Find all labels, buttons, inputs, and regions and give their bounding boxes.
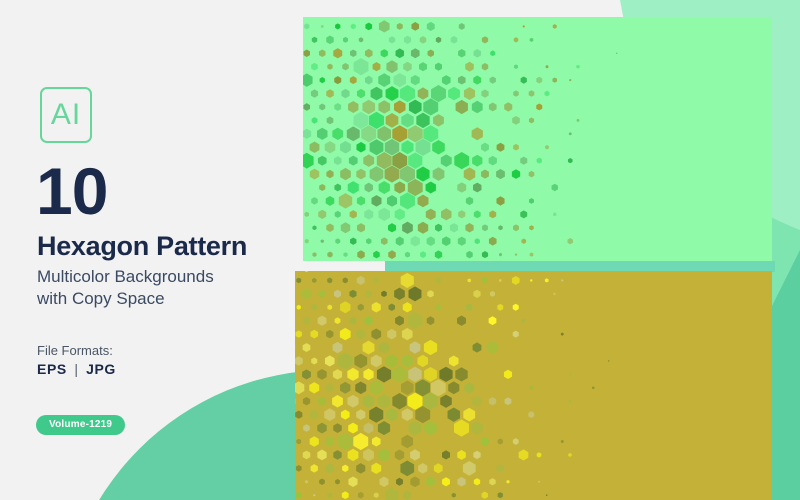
gold-hexagon-preview[interactable] (295, 271, 772, 500)
file-formats-label: File Formats: (37, 343, 113, 358)
gold-hexagon-pattern (295, 271, 772, 500)
asset-count: 10 (36, 158, 107, 224)
adobe-illustrator-icon: AI (40, 87, 92, 143)
ai-badge-label: AI (51, 100, 81, 130)
green-hexagon-preview[interactable] (303, 17, 772, 261)
preview-card: AI 10 Hexagon Pattern Multicolor Backgro… (0, 0, 800, 500)
volume-badge: Volume-1219 (36, 415, 125, 435)
green-hexagon-pattern (303, 17, 772, 261)
page-title: Hexagon Pattern (37, 233, 247, 260)
file-formats-value: EPS | JPG (37, 361, 116, 377)
format-eps: EPS (37, 361, 67, 377)
format-jpg: JPG (86, 361, 116, 377)
info-panel: AI 10 Hexagon Pattern Multicolor Backgro… (0, 0, 300, 500)
page-subtitle: Multicolor Backgrounds with Copy Space (37, 266, 287, 310)
subtitle-line-2: with Copy Space (37, 288, 287, 310)
format-separator: | (71, 361, 81, 377)
subtitle-line-1: Multicolor Backgrounds (37, 266, 287, 288)
